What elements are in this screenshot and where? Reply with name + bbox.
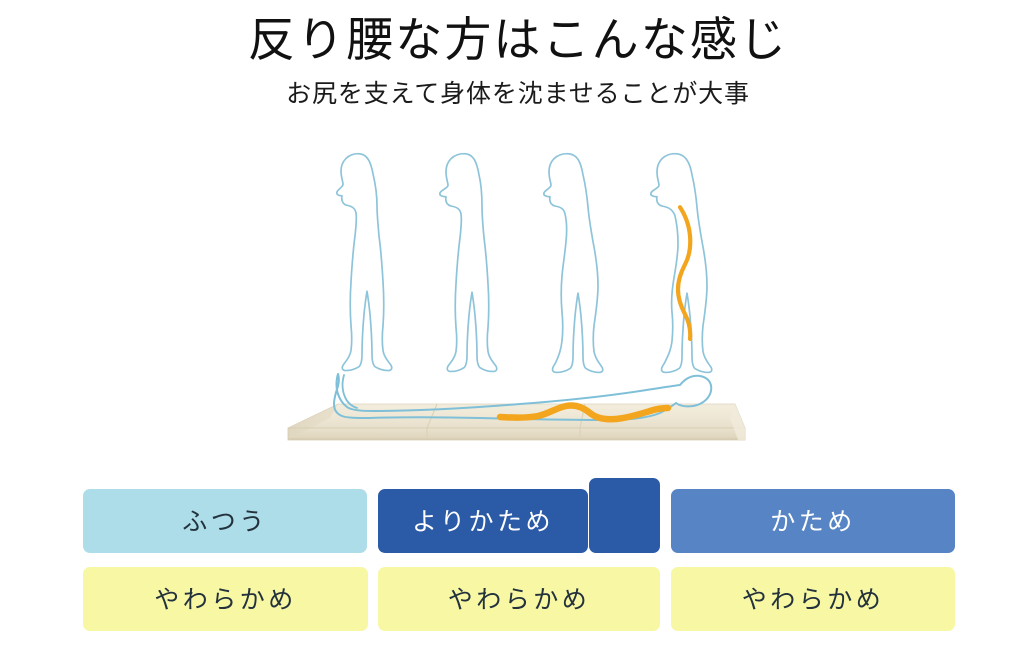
firmness-bar-katame[interactable]: かため: [671, 489, 955, 553]
softness-bar-label: やわらかめ: [448, 587, 591, 612]
firmness-bar-yorikatame[interactable]: よりかため: [378, 489, 588, 553]
mattress-svg: [0, 358, 1036, 473]
softness-bar-1[interactable]: やわらかめ: [83, 567, 368, 631]
firmness-bar-label: よりかため: [412, 509, 554, 534]
mattress-scene: [0, 358, 1036, 473]
infographic-canvas: 反り腰な方はこんな感じ お尻を支えて身体を沈ませることが大事: [0, 0, 1036, 666]
posture-figures-group: [0, 134, 1036, 374]
page-subtitle: お尻を支えて身体を沈ませることが大事: [0, 79, 1036, 112]
firmness-bar-label: かため: [770, 509, 856, 534]
softness-bar-3[interactable]: やわらかめ: [671, 567, 955, 631]
posture-figures-svg: [0, 134, 1036, 374]
softness-bar-label: やわらかめ: [742, 587, 885, 612]
firmness-bar-futsuu[interactable]: ふつう: [83, 489, 367, 553]
firmness-bar-accent-block[interactable]: [589, 478, 660, 553]
softness-bar-2[interactable]: やわらかめ: [378, 567, 660, 631]
page-title: 反り腰な方はこんな感じ: [0, 14, 1036, 69]
posture-figure-4-highlighted: [651, 154, 712, 373]
posture-figure-1: [337, 154, 392, 371]
heading-block: 反り腰な方はこんな感じ お尻を支えて身体を沈ませることが大事: [0, 14, 1036, 112]
firmness-bar-label: ふつう: [182, 509, 268, 534]
softness-bar-label: やわらかめ: [154, 587, 297, 612]
posture-figure-3: [544, 154, 603, 373]
posture-figure-2: [440, 154, 497, 372]
